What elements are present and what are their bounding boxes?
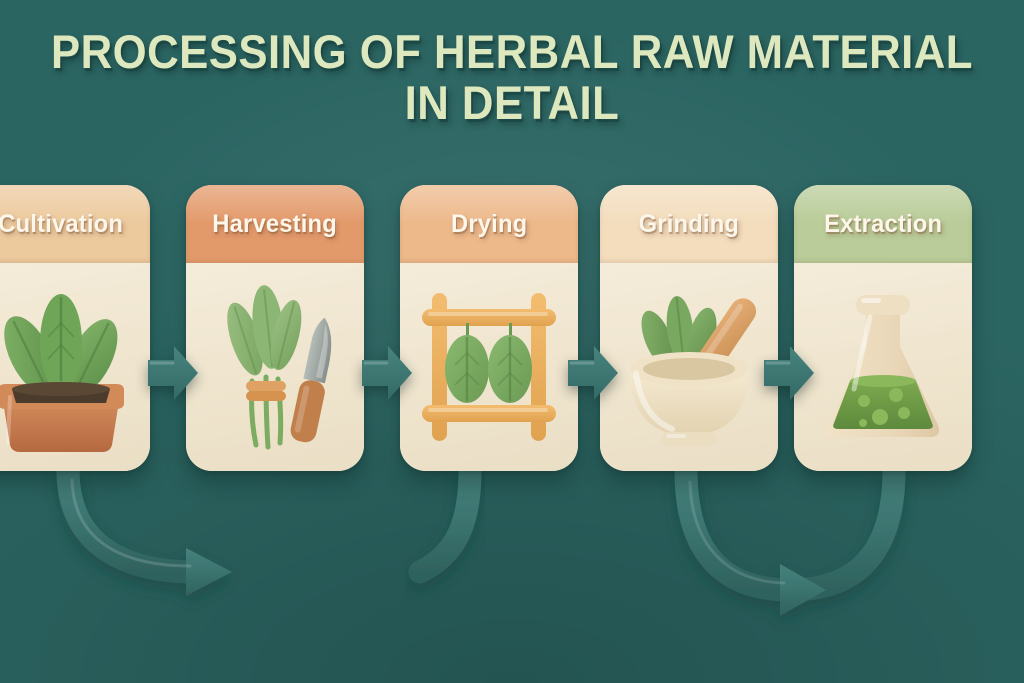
drying-rack-icon <box>414 277 564 457</box>
page-title: PROCESSING OF HERBAL RAW MATERIAL IN DET… <box>0 26 1024 128</box>
step-body-grinding <box>600 263 778 471</box>
step-card-grinding[interactable]: Grinding <box>600 185 778 471</box>
step-body-cultivation <box>0 263 150 471</box>
step-header-grinding: Grinding <box>600 185 778 263</box>
step-label-drying: Drying <box>451 210 527 239</box>
potted-plant-icon <box>0 277 136 457</box>
step-header-drying: Drying <box>400 185 578 263</box>
page-title-line-2: IN DETAIL <box>36 77 988 128</box>
step-body-extraction <box>794 263 972 471</box>
step-header-harvesting: Harvesting <box>186 185 364 263</box>
step-label-extraction: Extraction <box>824 210 942 239</box>
flask-icon <box>808 277 958 457</box>
chevron-arrow-drying-to-grinding <box>566 342 620 404</box>
step-header-extraction: Extraction <box>794 185 972 263</box>
step-card-extraction[interactable]: Extraction <box>794 185 972 471</box>
chevron-arrow-harvesting-to-drying <box>360 342 414 404</box>
step-card-cultivation[interactable]: Cultivation <box>0 185 150 471</box>
step-card-harvesting[interactable]: Harvesting <box>186 185 364 471</box>
step-label-grinding: Grinding <box>639 210 739 239</box>
step-header-cultivation: Cultivation <box>0 185 150 263</box>
step-body-harvesting <box>186 263 364 471</box>
chevron-arrow-cultivation-to-harvesting <box>146 342 200 404</box>
chevron-arrow-grinding-to-extraction <box>762 342 816 404</box>
step-label-cultivation: Cultivation <box>0 210 123 239</box>
page-title-line-1: PROCESSING OF HERBAL RAW MATERIAL <box>36 26 988 77</box>
step-card-drying[interactable]: Drying <box>400 185 578 471</box>
step-label-harvesting: Harvesting <box>213 210 338 239</box>
herb-bundle-knife-icon <box>200 277 350 457</box>
step-body-drying <box>400 263 578 471</box>
mortar-pestle-icon <box>614 277 764 457</box>
